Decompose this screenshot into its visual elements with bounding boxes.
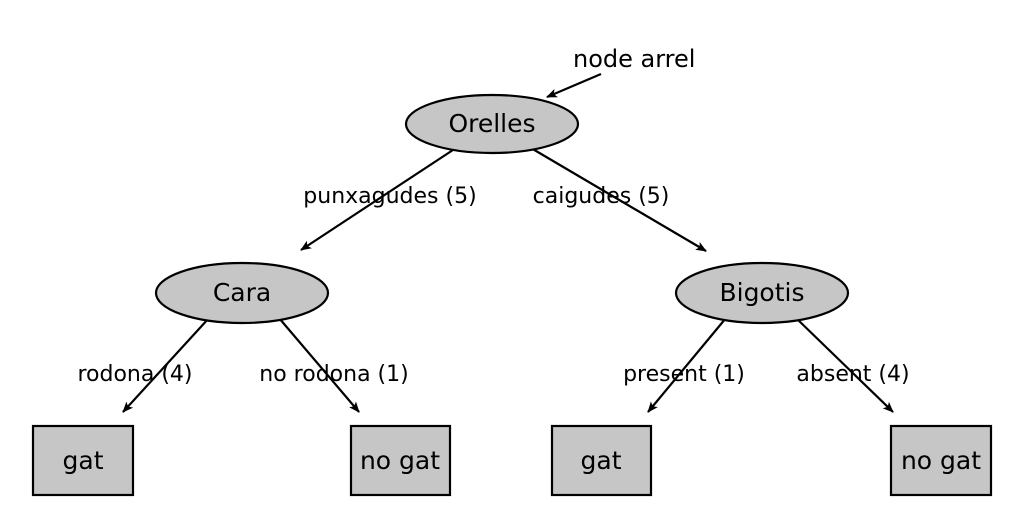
node-orelles-label: Orelles xyxy=(448,109,535,138)
node-leaf-gat-left[interactable]: gat xyxy=(33,426,133,495)
edge-label-punxagudes: punxagudes (5) xyxy=(303,184,476,209)
node-bigotis[interactable]: Bigotis xyxy=(676,263,848,323)
node-leaf-no-gat-left-label: no gat xyxy=(360,446,440,475)
edge-label-rodona: rodona (4) xyxy=(77,362,192,387)
edge-label-present: present (1) xyxy=(623,362,745,387)
node-leaf-no-gat-right-label: no gat xyxy=(901,446,981,475)
node-leaf-no-gat-right[interactable]: no gat xyxy=(891,426,991,495)
node-leaf-no-gat-left[interactable]: no gat xyxy=(351,426,450,495)
node-leaf-gat-right[interactable]: gat xyxy=(552,426,651,495)
edge-label-caigudes: caigudes (5) xyxy=(533,184,670,209)
decision-tree-diagram: node arrel punxagudes (5) caigudes (5) r… xyxy=(0,0,1024,530)
nodes-group: Orelles Cara Bigotis gat no gat xyxy=(33,95,991,495)
node-leaf-gat-left-label: gat xyxy=(63,446,104,475)
tree-canvas: node arrel punxagudes (5) caigudes (5) r… xyxy=(0,0,1024,530)
edge-label-absent: absent (4) xyxy=(796,362,909,387)
node-cara-label: Cara xyxy=(213,278,271,307)
node-bigotis-label: Bigotis xyxy=(719,278,804,307)
edge-label-no-rodona: no rodona (1) xyxy=(259,362,408,387)
node-arrel-pointer-line xyxy=(547,74,601,97)
annotation-group: node arrel xyxy=(547,45,695,97)
node-orelles[interactable]: Orelles xyxy=(406,95,578,153)
node-cara[interactable]: Cara xyxy=(156,263,328,323)
node-arrel-label: node arrel xyxy=(573,45,695,73)
node-leaf-gat-right-label: gat xyxy=(581,446,622,475)
